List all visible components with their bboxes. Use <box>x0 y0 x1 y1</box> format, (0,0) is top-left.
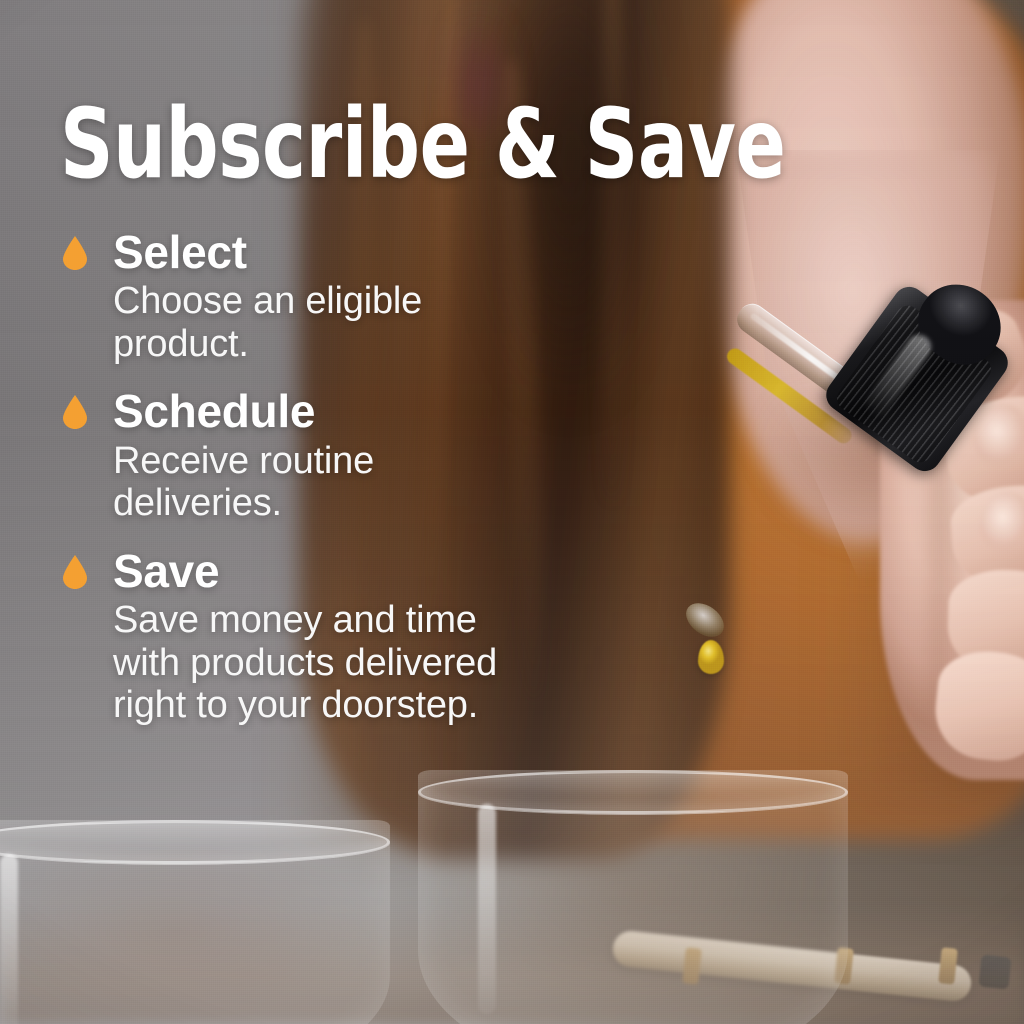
oil-drop-icon <box>63 236 87 270</box>
oil-drop-icon <box>63 395 87 429</box>
text-overlay: Subscribe & Save Select Choose an eligib… <box>0 0 1024 1024</box>
step-item-schedule: Schedule Receive routine deliveries. <box>60 387 640 524</box>
steps-list: Select Choose an eligible product. Sched… <box>60 228 640 727</box>
step-title: Schedule <box>60 387 640 435</box>
step-description: Save money and time with products delive… <box>60 599 530 727</box>
step-title: Save <box>60 547 640 595</box>
step-item-save: Save Save money and time with products d… <box>60 547 640 727</box>
step-description: Choose an eligible product. <box>60 280 530 365</box>
oil-drop-icon <box>63 555 87 589</box>
step-item-select: Select Choose an eligible product. <box>60 228 640 365</box>
step-description: Receive routine deliveries. <box>60 440 530 525</box>
page-title: Subscribe & Save <box>60 96 785 192</box>
promo-graphic: Subscribe & Save Select Choose an eligib… <box>0 0 1024 1024</box>
step-title: Select <box>60 228 640 276</box>
